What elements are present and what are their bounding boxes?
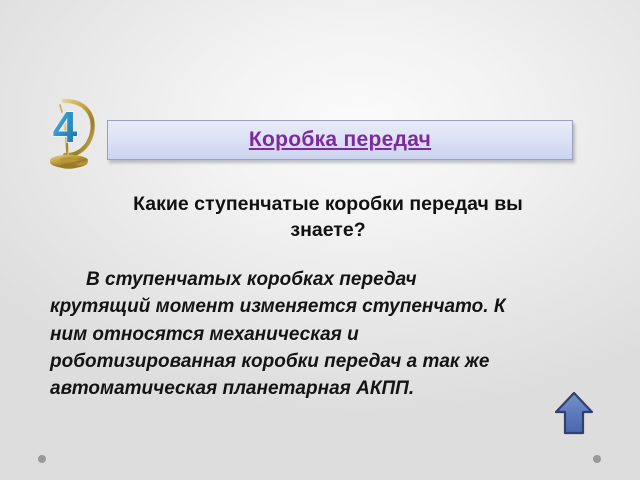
candle-number-four-icon: 4 xyxy=(38,94,102,172)
answer-text: В ступенчатых коробках передач крутящий … xyxy=(50,266,520,403)
page-title: Коробка передач xyxy=(249,128,431,152)
title-plaque[interactable]: Коробка передач xyxy=(107,120,573,160)
up-arrow-icon[interactable] xyxy=(553,390,595,436)
corner-dot-icon xyxy=(593,455,601,463)
corner-dot-icon xyxy=(38,455,46,463)
svg-text:4: 4 xyxy=(53,103,78,152)
question-text: Какие ступенчатые коробки передач вы зна… xyxy=(104,192,552,244)
slide-canvas: 4 Коробка передач Какие ступенчатые коро… xyxy=(0,0,640,480)
